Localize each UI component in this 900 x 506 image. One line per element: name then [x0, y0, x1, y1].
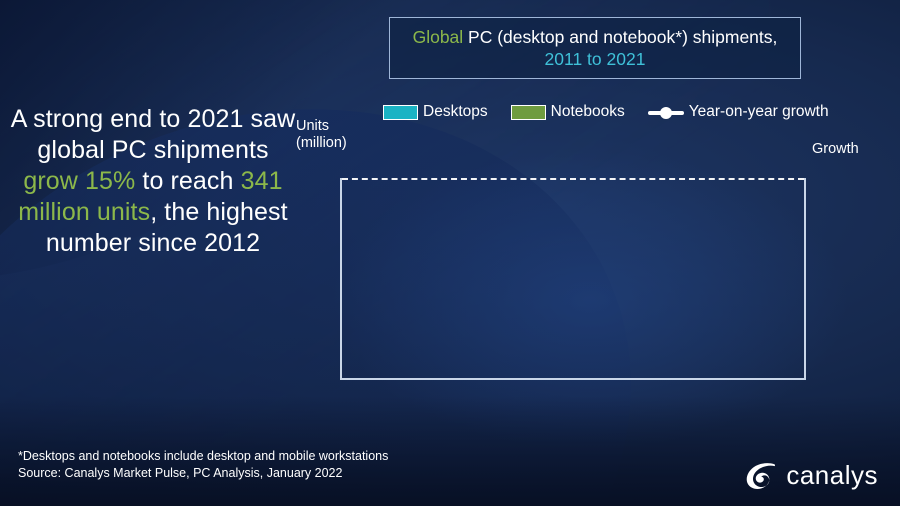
- headline-segment-0: A strong end to 2021 saw global PC shipm…: [11, 105, 296, 164]
- footnote-asterisk: *Desktops and notebooks include desktop …: [18, 448, 388, 465]
- legend-line-marker-icon: [648, 106, 684, 119]
- legend-swatch-desktops-icon: [383, 105, 418, 120]
- chart-title-line2: 2011 to 2021: [545, 49, 646, 70]
- chart-title-global-word: Global: [413, 27, 464, 47]
- left-axis-line: [340, 178, 342, 379]
- chart-title-box: Global PC (desktop and notebook*) shipme…: [389, 17, 801, 79]
- left-axis-caption-line1: Units: [296, 118, 347, 135]
- legend-item-notebooks[interactable]: Notebooks: [511, 103, 625, 121]
- headline-segment-1: grow 15%: [23, 167, 135, 195]
- growth-line-series: [340, 164, 806, 394]
- headline-text: A strong end to 2021 saw global PC shipm…: [8, 104, 298, 259]
- legend-label-growth: Year-on-year growth: [689, 103, 829, 121]
- legend-label-desktops: Desktops: [423, 103, 488, 121]
- right-axis-caption: Growth: [812, 141, 859, 157]
- chart-title-rest: PC (desktop and notebook*) shipments,: [463, 27, 777, 47]
- infographic-slide: A strong end to 2021 saw global PC shipm…: [0, 0, 900, 506]
- canalys-logo: canalys: [744, 460, 878, 491]
- left-axis-caption-line2: (million): [296, 135, 347, 152]
- legend-swatch-notebooks-icon: [511, 105, 546, 120]
- canalys-mark-icon: [744, 461, 778, 491]
- footnotes: *Desktops and notebooks include desktop …: [18, 448, 388, 482]
- legend-item-growth[interactable]: Year-on-year growth: [648, 103, 829, 121]
- chart-title-line1: Global PC (desktop and notebook*) shipme…: [413, 27, 778, 48]
- headline-segment-2: to reach: [135, 167, 240, 195]
- x-axis-line: [340, 378, 806, 380]
- zero-reference-line: [342, 178, 804, 180]
- canalys-wordmark: canalys: [786, 460, 878, 491]
- right-axis-line: [804, 178, 806, 379]
- chart-plot-area: [340, 178, 806, 379]
- left-axis-caption: Units (million): [296, 118, 347, 152]
- footnote-source: Source: Canalys Market Pulse, PC Analysi…: [18, 465, 388, 482]
- legend-item-desktops[interactable]: Desktops: [383, 103, 488, 121]
- chart-legend: Desktops Notebooks Year-on-year growth: [383, 101, 803, 123]
- legend-label-notebooks: Notebooks: [551, 103, 625, 121]
